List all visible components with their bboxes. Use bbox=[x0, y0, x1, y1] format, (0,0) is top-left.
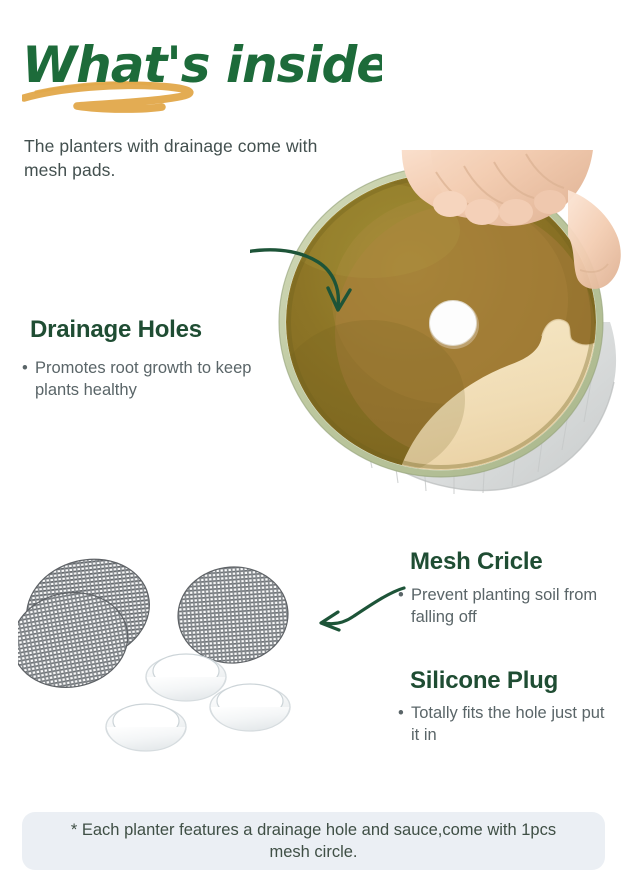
silicone-plug-heading: Silicone Plug bbox=[410, 667, 558, 695]
drainage-holes-heading: Drainage Holes bbox=[30, 316, 202, 344]
parts-photo bbox=[18, 535, 328, 770]
bullet-marker: • bbox=[22, 357, 28, 379]
silicone-plug bbox=[106, 704, 186, 751]
silicone-plug bbox=[146, 654, 226, 701]
bullet-text: Prevent planting soil from falling off bbox=[411, 584, 603, 629]
silicone-plug-bullet: • Totally fits the hole just put it in bbox=[398, 702, 608, 747]
drainage-holes-bullet: • Promotes root growth to keep plants he… bbox=[22, 357, 272, 402]
mesh-circle bbox=[175, 563, 291, 666]
bullet-marker: • bbox=[398, 584, 404, 606]
title-text-path: What's inside? bbox=[22, 36, 382, 94]
footer-note-box: * Each planter features a drainage hole … bbox=[22, 812, 605, 870]
infographic-page: What's inside? What's inside? The plante… bbox=[0, 0, 627, 879]
bullet-text: Promotes root growth to keep plants heal… bbox=[35, 357, 272, 402]
bullet-marker: • bbox=[398, 702, 404, 724]
bullet-text: Totally fits the hole just put it in bbox=[411, 702, 608, 747]
title-block: What's inside? What's inside? bbox=[22, 26, 382, 136]
arrow-to-mesh bbox=[312, 578, 412, 636]
planter-photo bbox=[250, 150, 627, 495]
mesh-circle-bullet: • Prevent planting soil from falling off bbox=[398, 584, 603, 629]
title-artwork: What's inside? bbox=[22, 26, 382, 136]
silicone-plug bbox=[210, 684, 290, 731]
mesh-circle-heading: Mesh Cricle bbox=[410, 548, 543, 576]
footer-note-text: * Each planter features a drainage hole … bbox=[22, 819, 605, 864]
